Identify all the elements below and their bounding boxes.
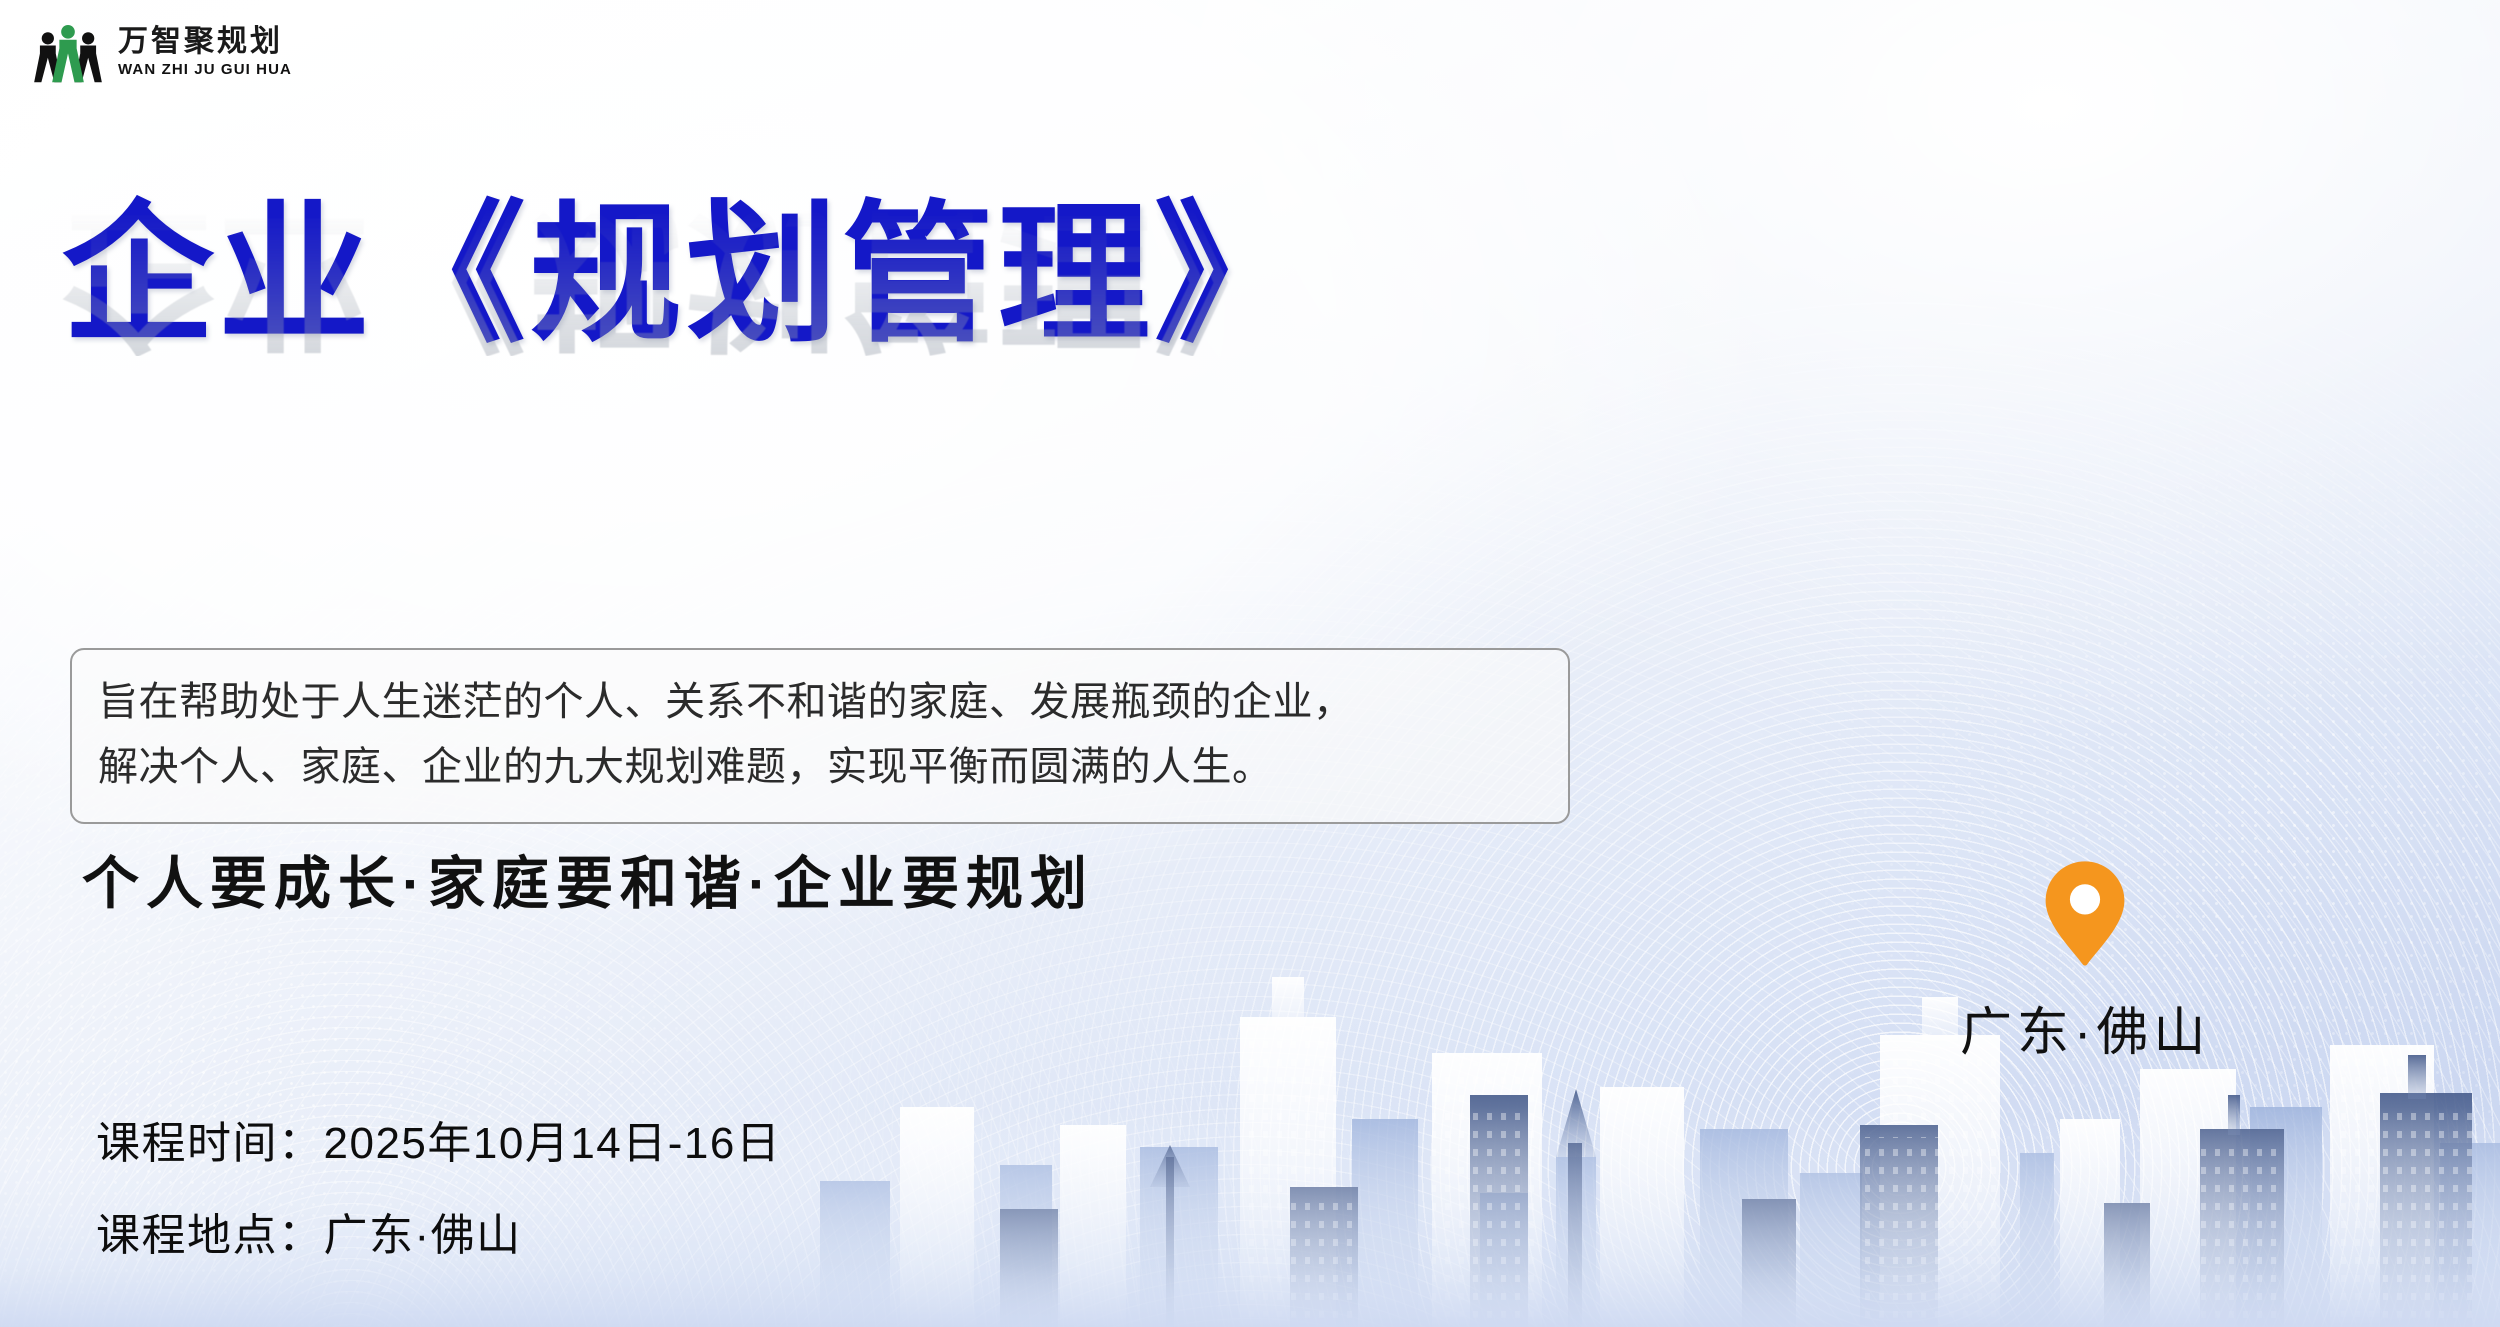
three-people-logo-icon: [32, 16, 104, 88]
course-info: 课程时间：2025年10月14日-16日 课程地点：广东·佛山: [96, 1122, 781, 1258]
page-title: 企业《规划管理》: [62, 196, 1562, 354]
hero-title-block: 企业《规划管理》 企业《规划管理》: [62, 196, 1562, 514]
description-line-1: 旨在帮助处于人生迷茫的个人、关系不和谐的家庭、发展瓶颈的企业，: [98, 670, 1544, 735]
course-place: 课程地点：广东·佛山: [96, 1214, 781, 1258]
brand-name-cn: 万智聚规划: [118, 26, 292, 58]
course-time: 课程时间：2025年10月14日-16日: [96, 1122, 781, 1166]
location-label: 广东·佛山: [1960, 990, 2210, 1065]
poster-canvas: 万智聚规划 WAN ZHI JU GUI HUA 企业《规划管理》 企业《规划管…: [0, 0, 2500, 1327]
description-line-2: 解决个人、家庭、企业的九大规划难题，实现平衡而圆满的人生。: [98, 735, 1544, 800]
brand-text: 万智聚规划 WAN ZHI JU GUI HUA: [118, 26, 292, 79]
tagline: 个人要成长·家庭要和谐·企业要规划: [82, 838, 1094, 920]
brand-logo: 万智聚规划 WAN ZHI JU GUI HUA: [32, 16, 292, 88]
description-box: 旨在帮助处于人生迷茫的个人、关系不和谐的家庭、发展瓶颈的企业， 解决个人、家庭、…: [70, 648, 1570, 824]
location-badge: 广东·佛山: [1960, 860, 2210, 1065]
location-pin-icon: [2043, 860, 2127, 968]
brand-name-pinyin: WAN ZHI JU GUI HUA: [118, 61, 292, 78]
